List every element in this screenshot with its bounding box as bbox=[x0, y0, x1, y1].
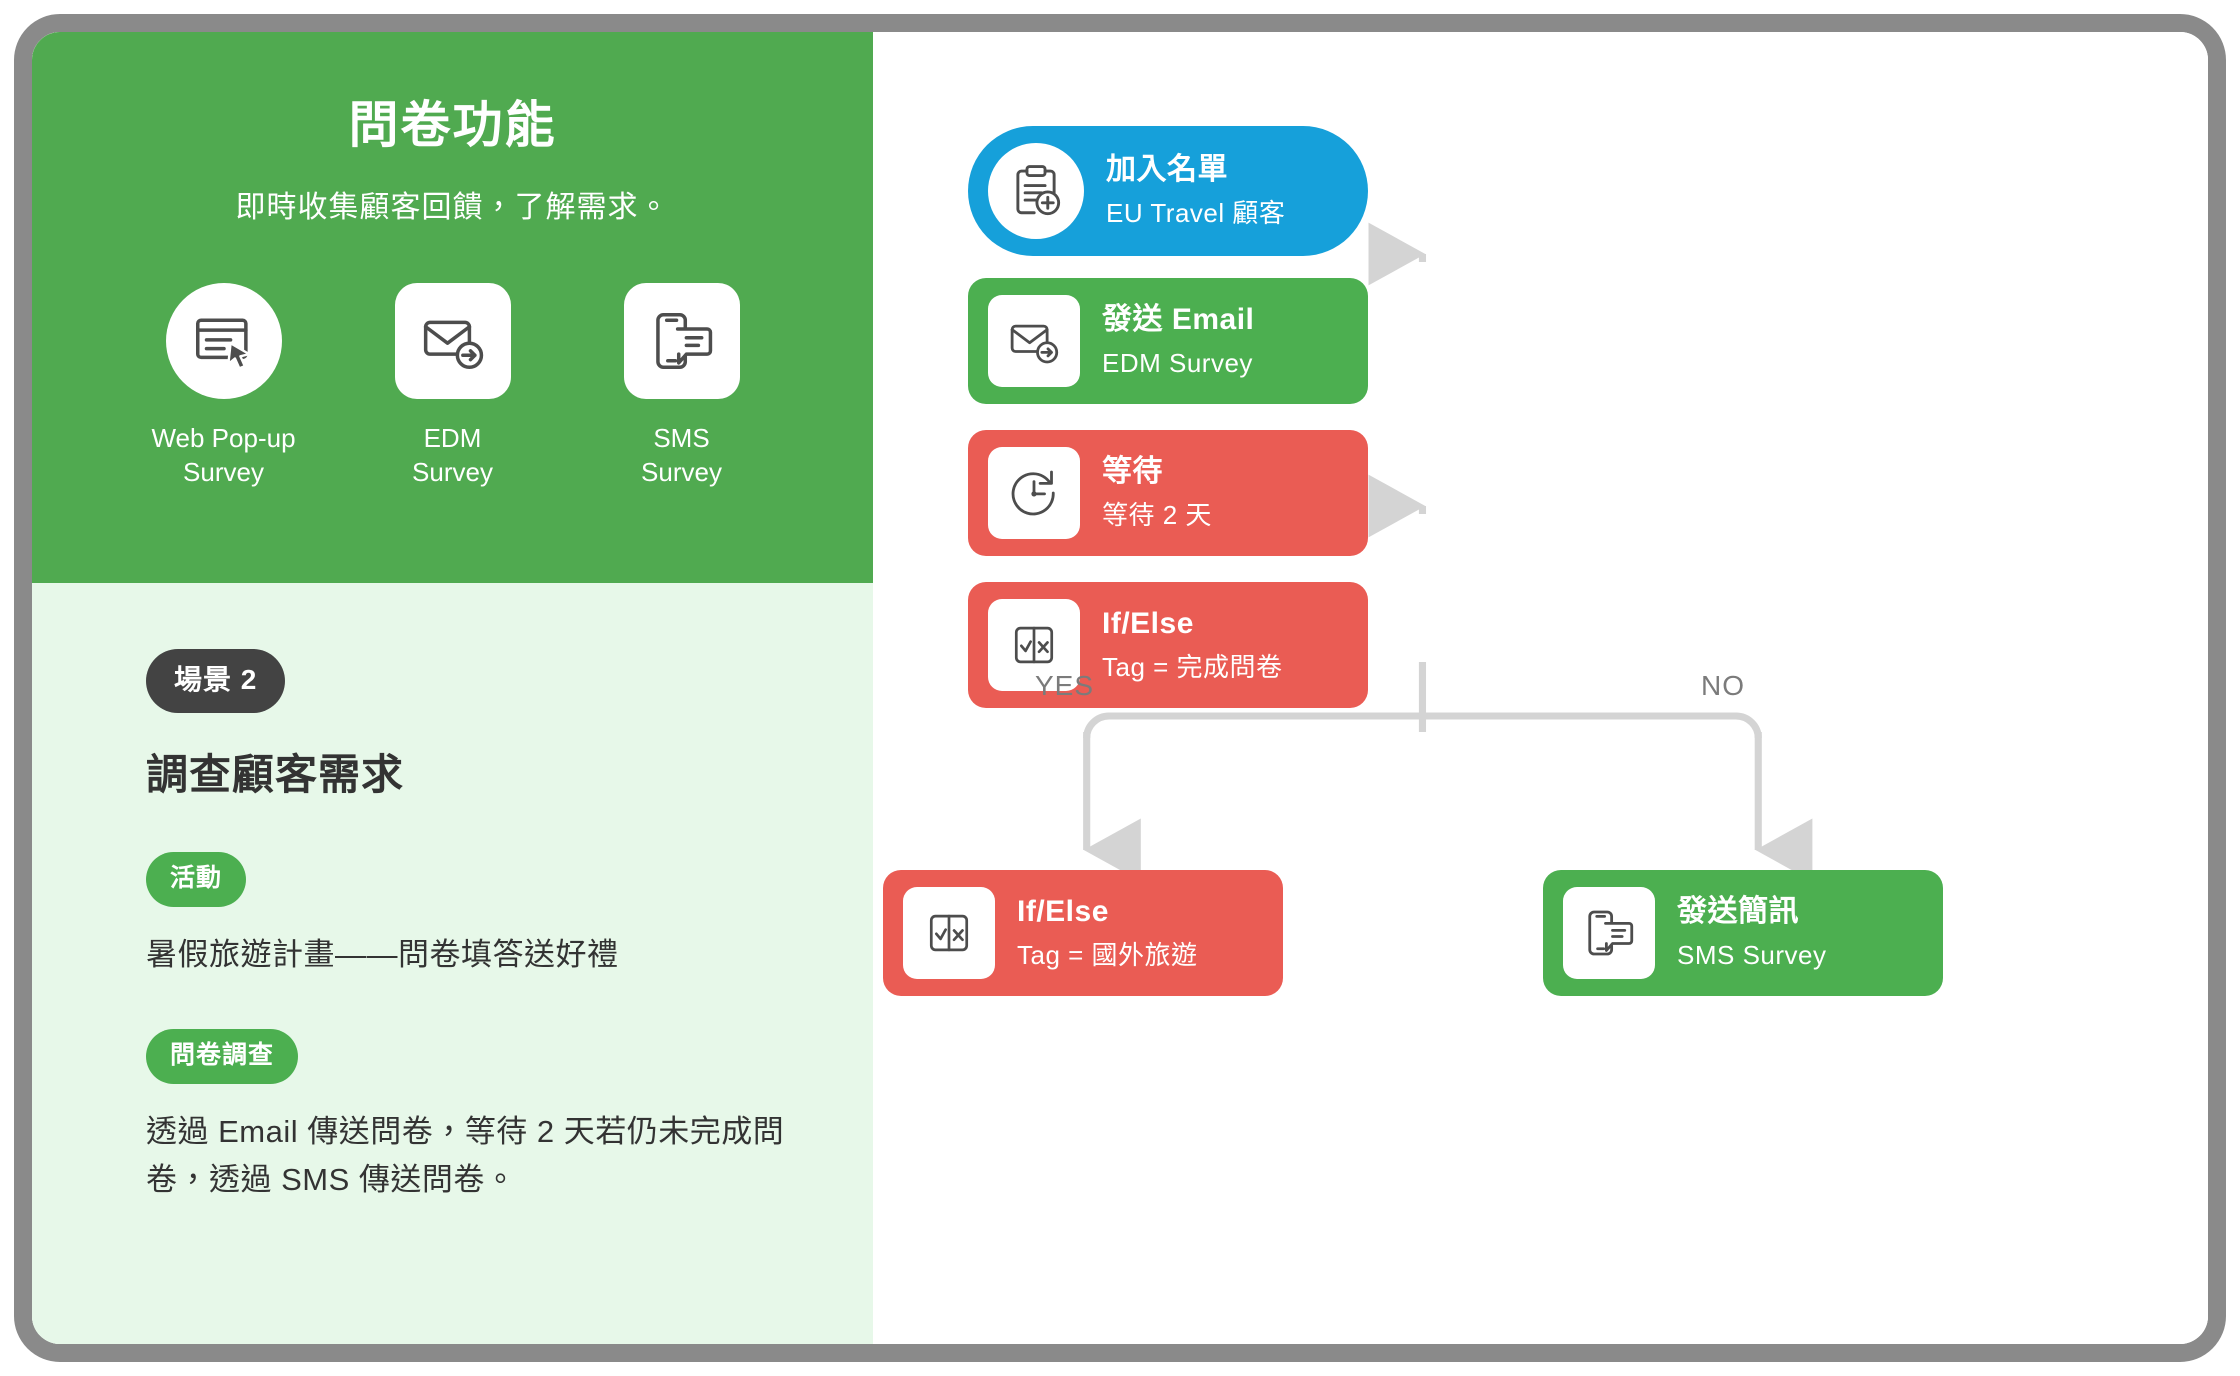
node-title: If/Else bbox=[1102, 606, 1283, 642]
node-text: If/Else Tag = 國外旅遊 bbox=[1017, 894, 1198, 972]
section-badge-campaign: 活動 bbox=[146, 852, 246, 907]
channel-edm-survey: EDM Survey bbox=[370, 283, 535, 490]
sms-survey-icon bbox=[624, 283, 740, 399]
scenario-badge: 場景 2 bbox=[146, 649, 285, 713]
edm-survey-icon bbox=[395, 283, 511, 399]
branch-label-yes: YES bbox=[1035, 670, 1094, 702]
node-subtitle: SMS Survey bbox=[1677, 939, 1827, 972]
node-title: 等待 bbox=[1102, 454, 1212, 490]
node-subtitle: Tag = 國外旅遊 bbox=[1017, 939, 1198, 972]
node-subtitle: EDM Survey bbox=[1102, 347, 1254, 380]
hero-section: 問卷功能 即時收集顧客回饋，了解需求。 bbox=[32, 32, 873, 583]
node-text: 加入名單 EU Travel 顧客 bbox=[1106, 152, 1285, 230]
branch-label-no: NO bbox=[1701, 670, 1745, 702]
channel-web-popup-survey: Web Pop-up Survey bbox=[141, 283, 306, 490]
hero-subtitle: 即時收集顧客回饋，了解需求。 bbox=[82, 187, 823, 229]
node-title: 發送簡訊 bbox=[1677, 894, 1827, 930]
node-title: 發送 Email bbox=[1102, 302, 1254, 338]
channel-label: SMS Survey bbox=[641, 421, 722, 490]
flowchart-panel: 加入名單 EU Travel 顧客 bbox=[873, 32, 2208, 1344]
scenario-section-survey: 問卷調查 透過 Email 傳送問卷，等待 2 天若仍未完成問卷，透過 SMS … bbox=[146, 979, 799, 1204]
page-title: 問卷功能 bbox=[82, 94, 823, 157]
flow-node-if-else-travel[interactable]: If/Else Tag = 國外旅遊 bbox=[883, 870, 1283, 996]
node-text: 發送 Email EDM Survey bbox=[1102, 302, 1254, 380]
flow-node-send-sms[interactable]: 發送簡訊 SMS Survey bbox=[1543, 870, 1943, 996]
clock-rotate-icon bbox=[988, 447, 1080, 539]
channel-label: Web Pop-up Survey bbox=[151, 421, 295, 490]
node-text: If/Else Tag = 完成問卷 bbox=[1102, 606, 1283, 684]
section-badge-survey: 問卷調查 bbox=[146, 1029, 298, 1084]
scenario-title: 調查顧客需求 bbox=[146, 741, 799, 802]
device-frame: 問卷功能 即時收集顧客回饋，了解需求。 bbox=[14, 14, 2226, 1362]
flow-node-wait[interactable]: 等待 等待 2 天 bbox=[968, 430, 1368, 556]
left-panel: 問卷功能 即時收集顧客回饋，了解需求。 bbox=[32, 32, 873, 1344]
clipboard-add-icon bbox=[988, 143, 1084, 239]
node-subtitle: EU Travel 顧客 bbox=[1106, 197, 1285, 230]
screen: 問卷功能 即時收集顧客回饋，了解需求。 bbox=[32, 32, 2208, 1344]
flow-node-send-email[interactable]: 發送 Email EDM Survey bbox=[968, 278, 1368, 404]
scenario-section-campaign: 活動 暑假旅遊計畫——問卷填答送好禮 bbox=[146, 802, 799, 979]
envelope-send-icon bbox=[988, 295, 1080, 387]
node-title: If/Else bbox=[1017, 894, 1198, 930]
phone-message-icon bbox=[1563, 887, 1655, 979]
flow-canvas: 加入名單 EU Travel 顧客 bbox=[873, 32, 2208, 1344]
flow-node-add-to-list[interactable]: 加入名單 EU Travel 顧客 bbox=[968, 126, 1368, 256]
section-body-campaign: 暑假旅遊計畫——問卷填答送好禮 bbox=[146, 931, 799, 979]
channel-sms-survey: SMS Survey bbox=[599, 283, 764, 490]
node-text: 等待 等待 2 天 bbox=[1102, 454, 1212, 532]
if-else-icon bbox=[903, 887, 995, 979]
section-body-survey: 透過 Email 傳送問卷，等待 2 天若仍未完成問卷，透過 SMS 傳送問卷。 bbox=[146, 1108, 799, 1204]
channel-list: Web Pop-up Survey EDM Survey bbox=[82, 283, 823, 490]
web-popup-survey-icon bbox=[166, 283, 282, 399]
channel-label: EDM Survey bbox=[412, 421, 493, 490]
node-subtitle: Tag = 完成問卷 bbox=[1102, 651, 1283, 684]
node-text: 發送簡訊 SMS Survey bbox=[1677, 894, 1827, 972]
flow-node-if-else-survey[interactable]: If/Else Tag = 完成問卷 bbox=[968, 582, 1368, 708]
node-title: 加入名單 bbox=[1106, 152, 1285, 188]
scenario-section: 場景 2 調查顧客需求 活動 暑假旅遊計畫——問卷填答送好禮 問卷調查 透過 E… bbox=[32, 583, 873, 1344]
node-subtitle: 等待 2 天 bbox=[1102, 499, 1212, 532]
